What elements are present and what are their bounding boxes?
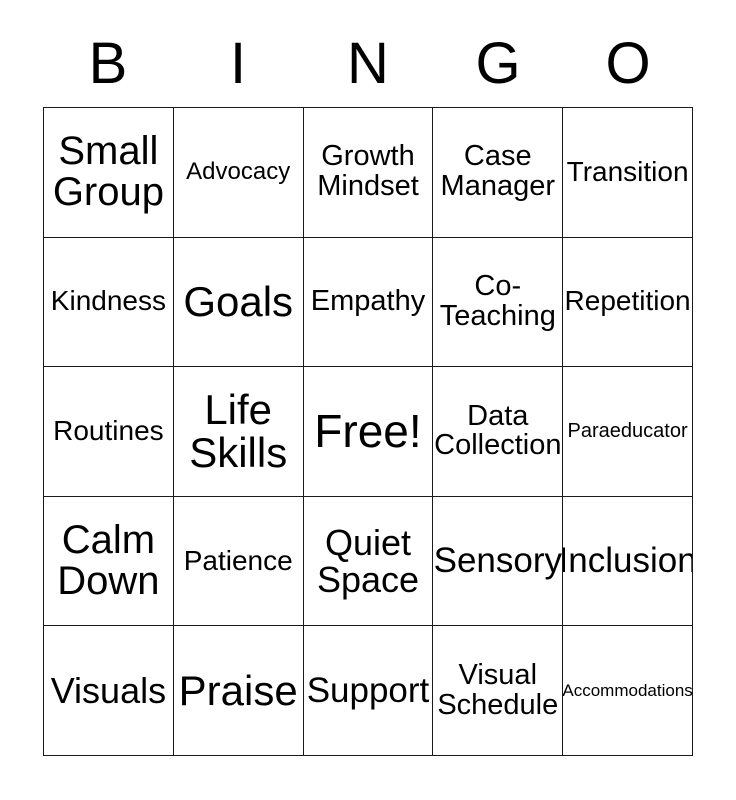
bingo-cell-label: Co- Teaching <box>440 272 556 332</box>
bingo-cell[interactable]: Quiet Space <box>304 497 434 627</box>
bingo-cell[interactable]: Patience <box>174 497 304 627</box>
bingo-cell-label: Inclusion <box>563 543 693 579</box>
bingo-cell-label: Visuals <box>51 672 166 709</box>
bingo-cell[interactable]: Growth Mindset <box>304 108 434 238</box>
header-letter-i: I <box>173 28 303 100</box>
bingo-cell[interactable]: Case Manager <box>433 108 563 238</box>
bingo-cell[interactable]: Visuals <box>44 626 174 756</box>
bingo-cell[interactable]: Sensory <box>433 497 563 627</box>
header-letter-g: G <box>433 28 563 100</box>
bingo-cell-label: Goals <box>183 280 293 323</box>
bingo-cell-label: Paraeducator <box>568 421 688 442</box>
bingo-row: Calm Down Patience Quiet Space Sensory I… <box>44 497 693 627</box>
bingo-row: Kindness Goals Empathy Co- Teaching Repe… <box>44 238 693 368</box>
header-letter-o: O <box>563 28 693 100</box>
bingo-cell-label: Kindness <box>51 287 166 316</box>
bingo-cell[interactable]: Routines <box>44 367 174 497</box>
bingo-cell-label: Quiet Space <box>317 524 419 598</box>
bingo-cell-label: Growth Mindset <box>317 142 419 202</box>
bingo-cell-label: Visual Schedule <box>437 661 558 721</box>
bingo-cell-label: Small Group <box>53 131 164 213</box>
bingo-cell-label: Free! <box>314 408 421 455</box>
bingo-cell-label: Patience <box>184 547 293 576</box>
bingo-cell[interactable]: Repetition <box>563 238 693 368</box>
bingo-cell-label: Sensory <box>434 543 562 579</box>
bingo-cell[interactable]: Inclusion <box>563 497 693 627</box>
bingo-row: Small Group Advocacy Growth Mindset Case… <box>44 108 693 238</box>
bingo-cell[interactable]: Co- Teaching <box>433 238 563 368</box>
bingo-cell-label: Repetition <box>565 287 691 316</box>
bingo-cell[interactable]: Calm Down <box>44 497 174 627</box>
bingo-cell-label: Transition <box>567 158 689 187</box>
header-letter-n: N <box>303 28 433 100</box>
bingo-cell-label: Routines <box>53 417 164 446</box>
bingo-cell[interactable]: Kindness <box>44 238 174 368</box>
bingo-cell-label: Life Skills <box>189 388 287 475</box>
bingo-header: B I N G O <box>43 28 693 100</box>
bingo-cell[interactable]: Visual Schedule <box>433 626 563 756</box>
bingo-cell[interactable]: Accommodations <box>563 626 693 756</box>
bingo-cell[interactable]: Support <box>304 626 434 756</box>
bingo-cell[interactable]: Goals <box>174 238 304 368</box>
bingo-cell-free-space[interactable]: Free! <box>304 367 434 497</box>
bingo-cell-label: Advocacy <box>186 160 290 185</box>
bingo-row: Visuals Praise Support Visual Schedule A… <box>44 626 693 756</box>
bingo-cell-label: Case Manager <box>441 142 555 202</box>
bingo-cell[interactable]: Transition <box>563 108 693 238</box>
bingo-card: B I N G O Small Group Advocacy Growth Mi… <box>0 0 736 800</box>
bingo-cell[interactable]: Small Group <box>44 108 174 238</box>
bingo-cell-label: Praise <box>179 669 298 712</box>
bingo-row: Routines Life Skills Free! Data Collecti… <box>44 367 693 497</box>
bingo-cell-label: Accommodations <box>563 682 693 700</box>
bingo-cell[interactable]: Advocacy <box>174 108 304 238</box>
bingo-cell-label: Support <box>307 673 430 709</box>
header-letter-b: B <box>43 28 173 100</box>
bingo-cell[interactable]: Paraeducator <box>563 367 693 497</box>
bingo-cell-label: Empathy <box>311 287 425 317</box>
bingo-cell-label: Data Collection <box>434 402 561 462</box>
bingo-cell[interactable]: Data Collection <box>433 367 563 497</box>
bingo-cell[interactable]: Empathy <box>304 238 434 368</box>
bingo-cell[interactable]: Praise <box>174 626 304 756</box>
bingo-grid: Small Group Advocacy Growth Mindset Case… <box>43 107 693 756</box>
bingo-cell-label: Calm Down <box>57 520 159 602</box>
bingo-cell[interactable]: Life Skills <box>174 367 304 497</box>
